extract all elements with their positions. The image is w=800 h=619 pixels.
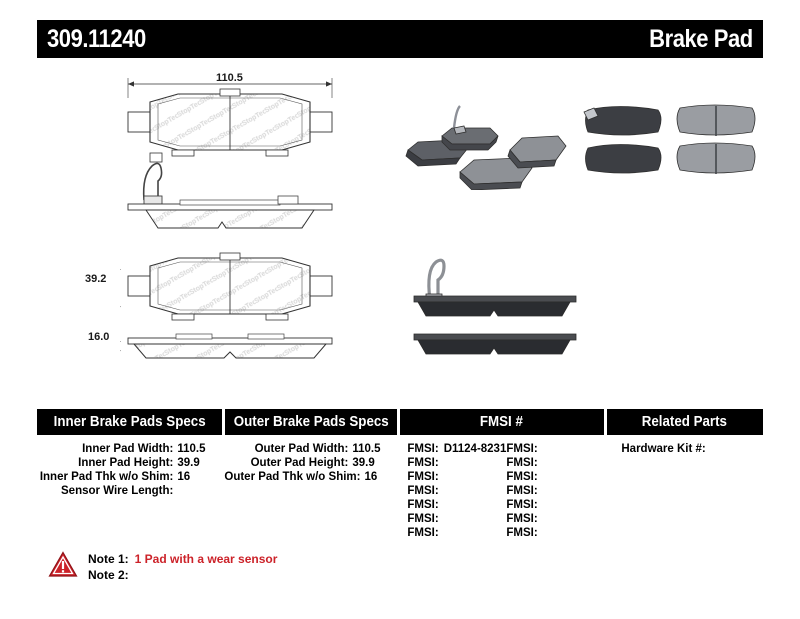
product-photo-grid-set bbox=[580, 100, 762, 186]
product-photo-edge-pair bbox=[404, 252, 586, 362]
dimension-label-height: 39.2 bbox=[85, 273, 106, 285]
fmsi-row: FMSI: bbox=[506, 484, 604, 498]
spec-label: Outer Pad Height: bbox=[251, 457, 349, 469]
drawing-top-view bbox=[128, 78, 332, 162]
drawing-edge-view-sensor bbox=[128, 163, 332, 228]
column-header-outer-specs: Outer Brake Pads Specs bbox=[225, 409, 396, 435]
fmsi-label: FMSI: bbox=[407, 499, 438, 511]
fmsi-row: FMSI:D1124-8231 bbox=[407, 442, 506, 456]
spec-row: Inner Pad Thk w/o Shim:16 bbox=[37, 470, 221, 484]
technical-drawing-group: StopTech bbox=[120, 68, 350, 368]
spec-label: Inner Pad Width: bbox=[82, 443, 173, 455]
product-header-bar: 309.11240 Brake Pad bbox=[37, 20, 763, 58]
fmsi-value bbox=[538, 499, 543, 511]
inner-specs-cell: Inner Pad Width:110.5 Inner Pad Height:3… bbox=[37, 442, 221, 540]
fmsi-row: FMSI: bbox=[506, 498, 604, 512]
spec-value: 16 bbox=[360, 470, 394, 484]
spec-value: 110.5 bbox=[173, 442, 207, 456]
note-label: Note 2: bbox=[88, 568, 129, 582]
spec-row: Outer Pad Height:39.9 bbox=[224, 456, 396, 470]
spec-label: Sensor Wire Length: bbox=[61, 485, 173, 497]
fmsi-value bbox=[538, 527, 543, 539]
spec-label: Outer Pad Width: bbox=[255, 443, 349, 455]
fmsi-row: FMSI: bbox=[506, 442, 604, 456]
related-parts-cell: Hardware Kit #: bbox=[607, 442, 763, 540]
spec-value: 110.5 bbox=[348, 442, 382, 456]
fmsi-label: FMSI: bbox=[407, 485, 438, 497]
drawing-thickness-view bbox=[120, 334, 332, 358]
note-line: Note 1:1 Pad with a wear sensor bbox=[88, 551, 277, 567]
specifications-table: Inner Brake Pads Specs Outer Brake Pads … bbox=[37, 409, 763, 540]
fmsi-value bbox=[538, 457, 543, 469]
spec-row: Outer Pad Width:110.5 bbox=[224, 442, 396, 456]
spec-row: Sensor Wire Length: bbox=[37, 484, 221, 498]
spec-row: Outer Pad Thk w/o Shim:16 bbox=[224, 470, 396, 484]
table-header-row: Inner Brake Pads Specs Outer Brake Pads … bbox=[37, 409, 763, 435]
spec-label: Outer Pad Thk w/o Shim: bbox=[224, 471, 360, 483]
fmsi-column-left: FMSI:D1124-8231 FMSI: FMSI: FMSI: FMSI: bbox=[407, 442, 506, 540]
fmsi-row: FMSI: bbox=[506, 526, 604, 540]
fmsi-label: FMSI: bbox=[407, 443, 438, 455]
note-line: Note 2: bbox=[88, 567, 277, 583]
fmsi-value bbox=[538, 471, 543, 483]
fmsi-row: FMSI: bbox=[407, 498, 506, 512]
related-part-row: Hardware Kit #: bbox=[607, 442, 763, 456]
fmsi-value bbox=[439, 527, 444, 539]
fmsi-label: FMSI: bbox=[506, 443, 537, 455]
spec-row: Inner Pad Height:39.9 bbox=[37, 456, 221, 470]
fmsi-value bbox=[439, 471, 444, 483]
fmsi-value bbox=[538, 443, 543, 455]
fmsi-value bbox=[439, 457, 444, 469]
spec-label: Inner Pad Thk w/o Shim: bbox=[40, 471, 174, 483]
fmsi-value: D1124-8231 bbox=[439, 443, 507, 455]
fmsi-row: FMSI: bbox=[407, 456, 506, 470]
product-type-label: Brake Pad bbox=[649, 25, 753, 54]
spec-value: 39.9 bbox=[173, 456, 207, 470]
figure-area: StopTech bbox=[0, 60, 800, 390]
fmsi-label: FMSI: bbox=[407, 471, 438, 483]
fmsi-value bbox=[538, 485, 543, 497]
column-header-related-parts: Related Parts bbox=[607, 409, 763, 435]
fmsi-row: FMSI: bbox=[407, 512, 506, 526]
spec-label: Inner Pad Height: bbox=[78, 457, 173, 469]
fmsi-value bbox=[439, 485, 444, 497]
column-header-fmsi: FMSI # bbox=[400, 409, 604, 435]
part-number: 309.11240 bbox=[47, 25, 146, 54]
fmsi-label: FMSI: bbox=[506, 499, 537, 511]
fmsi-row: FMSI: bbox=[506, 456, 604, 470]
fmsi-label: FMSI: bbox=[506, 485, 537, 497]
fmsi-label: FMSI: bbox=[506, 457, 537, 469]
fmsi-label: FMSI: bbox=[506, 527, 537, 539]
fmsi-row: FMSI: bbox=[506, 470, 604, 484]
note-text: 1 Pad with a wear sensor bbox=[129, 552, 278, 566]
fmsi-label: FMSI: bbox=[407, 457, 438, 469]
fmsi-row: FMSI: bbox=[407, 526, 506, 540]
outer-specs-cell: Outer Pad Width:110.5 Outer Pad Height:3… bbox=[224, 442, 396, 540]
fmsi-column-right: FMSI: FMSI: FMSI: FMSI: FMSI: bbox=[506, 442, 604, 540]
fmsi-label: FMSI: bbox=[506, 471, 537, 483]
warning-triangle-icon bbox=[48, 551, 78, 578]
note-label: Note 1: bbox=[88, 552, 129, 566]
fmsi-row: FMSI: bbox=[407, 470, 506, 484]
fmsi-value bbox=[538, 513, 543, 525]
column-header-inner-specs: Inner Brake Pads Specs bbox=[37, 409, 222, 435]
related-part-label: Hardware Kit #: bbox=[621, 443, 705, 455]
spec-row: Inner Pad Width:110.5 bbox=[37, 442, 221, 456]
dimension-label-width: 110.5 bbox=[216, 72, 243, 84]
table-body: Inner Pad Width:110.5 Inner Pad Height:3… bbox=[37, 435, 763, 540]
notes-lines: Note 1:1 Pad with a wear sensor Note 2: bbox=[88, 551, 277, 583]
note-text bbox=[129, 568, 135, 582]
product-photo-angled-set bbox=[398, 98, 570, 190]
fmsi-row: FMSI: bbox=[506, 512, 604, 526]
fmsi-cell: FMSI:D1124-8231 FMSI: FMSI: FMSI: FMSI: bbox=[399, 442, 604, 540]
fmsi-label: FMSI: bbox=[506, 513, 537, 525]
fmsi-value bbox=[439, 499, 444, 511]
spec-value: 16 bbox=[173, 470, 207, 484]
fmsi-value bbox=[439, 513, 444, 525]
fmsi-label: FMSI: bbox=[407, 527, 438, 539]
notes-section: Note 1:1 Pad with a wear sensor Note 2: bbox=[48, 551, 277, 583]
fmsi-label: FMSI: bbox=[407, 513, 438, 525]
fmsi-row: FMSI: bbox=[407, 484, 506, 498]
dimension-label-thickness: 16.0 bbox=[88, 331, 109, 343]
spec-value: 39.9 bbox=[348, 456, 382, 470]
